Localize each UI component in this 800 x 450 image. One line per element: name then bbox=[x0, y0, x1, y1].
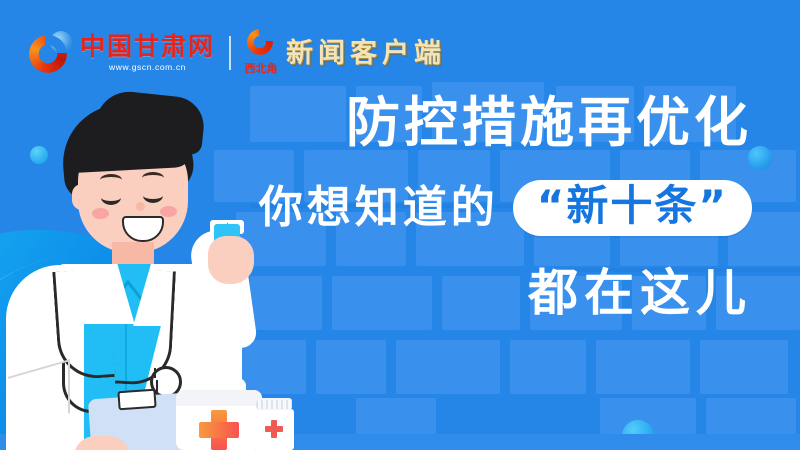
swirl-icon-small bbox=[247, 29, 273, 55]
eye-left bbox=[101, 190, 121, 205]
site-header: 中国甘肃网 www.gscn.com.cn 西北角 新闻客户端 bbox=[28, 26, 446, 80]
kit-lid bbox=[176, 390, 262, 406]
xibeijiao-logo-icon: 西北角 bbox=[244, 29, 278, 77]
sub-brand-name: 西北角 bbox=[244, 60, 278, 76]
pill-bottle bbox=[254, 398, 294, 450]
pill-bottle-ridges bbox=[256, 400, 292, 409]
highlight-pill-text: “新十条” bbox=[537, 185, 728, 227]
brand-url: www.gscn.com.cn bbox=[109, 62, 186, 72]
eyebrow-left bbox=[100, 174, 122, 186]
headline-line-3: 都在这儿 bbox=[232, 268, 752, 318]
medical-cross-icon-bar bbox=[199, 422, 239, 438]
header-divider bbox=[229, 36, 231, 70]
hair-fringe bbox=[65, 121, 193, 174]
pill-cross-icon-bar bbox=[265, 426, 283, 432]
eye-right bbox=[143, 188, 163, 203]
ear bbox=[72, 184, 92, 210]
gansu-logo-icon bbox=[28, 30, 74, 76]
headline-line-2-prefix: 你想知道的 bbox=[259, 186, 499, 230]
client-title: 新闻客户端 bbox=[286, 40, 446, 67]
highlight-pill: “新十条” bbox=[513, 180, 752, 236]
first-aid-kit bbox=[176, 378, 262, 450]
swirl-icon bbox=[29, 35, 67, 73]
brand-name: 中国甘肃网 bbox=[80, 34, 215, 59]
cheek-right bbox=[160, 206, 177, 217]
clipboard-clip bbox=[117, 389, 156, 411]
headline-line-2: 你想知道的 “新十条” bbox=[232, 180, 752, 236]
headline-block: 防控措施再优化 你想知道的 “新十条” 都在这儿 bbox=[232, 96, 752, 318]
cheek-left bbox=[92, 208, 109, 219]
poster-root: 中国甘肃网 www.gscn.com.cn 西北角 新闻客户端 bbox=[0, 0, 800, 450]
eyebrow-right bbox=[142, 172, 164, 184]
coat-seam-top bbox=[154, 368, 156, 378]
nose bbox=[136, 202, 145, 211]
headline-line-1: 防控措施再优化 bbox=[232, 96, 752, 150]
